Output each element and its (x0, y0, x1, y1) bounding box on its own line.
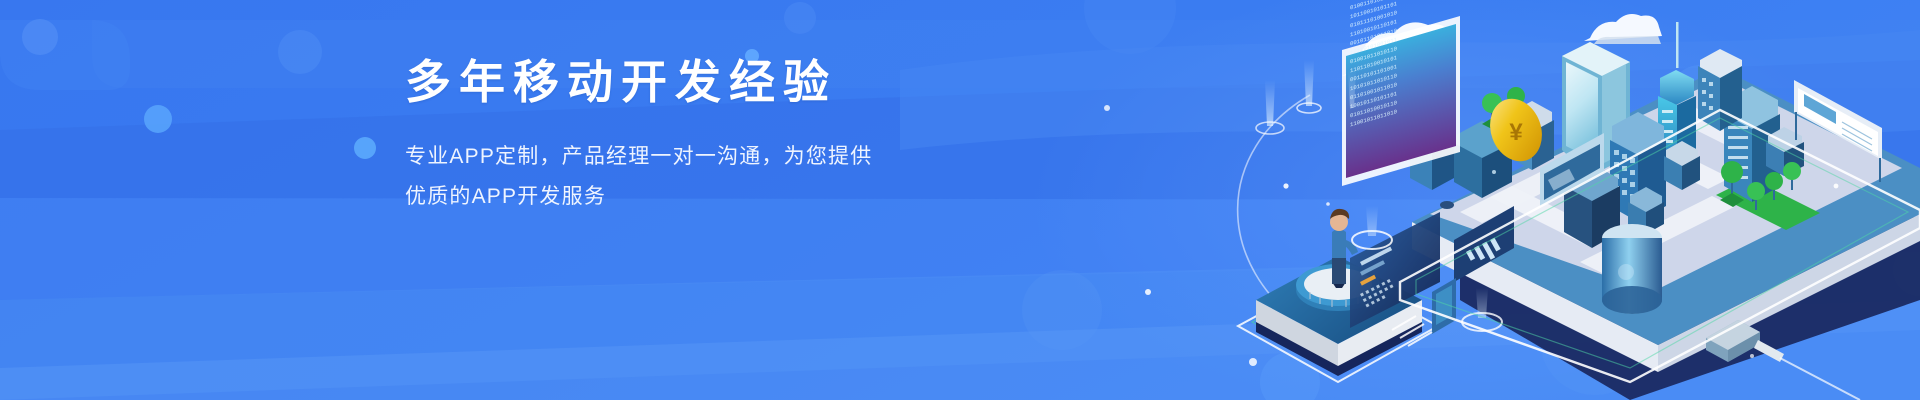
hero-illustration: ¥ 01001101010110 10110010101101 01011101… (1160, 0, 1920, 400)
subtitle-line-2: 优质的APP开发服务 (405, 177, 1025, 217)
decor-circle-5 (784, 2, 816, 34)
yen-symbol: ¥ (1509, 119, 1523, 146)
cloud-icon-2 (1584, 14, 1662, 44)
light-beams (1256, 60, 1356, 134)
decor-circle-2 (144, 105, 172, 133)
isometric-city-illustration: ¥ 01001101010110 10110010101101 01011101… (1160, 0, 1920, 400)
hero-banner: 多年移动开发经验 专业APP定制，产品经理一对一沟通，为您提供 优质的APP开发… (0, 0, 1920, 400)
building-cube-2 (1664, 141, 1700, 190)
hero-copy: 多年移动开发经验 专业APP定制，产品经理一对一沟通，为您提供 优质的APP开发… (405, 56, 1025, 217)
camera-lens (1440, 201, 1454, 209)
decor-circle-19 (1104, 105, 1110, 111)
subtitle-line-1: 专业APP定制，产品经理一对一沟通，为您提供 (405, 137, 1025, 177)
decor-circle-1 (22, 19, 58, 55)
decor-circle-4 (278, 30, 322, 74)
decor-circle-18 (1145, 289, 1151, 295)
page-title: 多年移动开发经验 (405, 56, 1025, 109)
decor-circle-14 (1022, 270, 1102, 350)
subtitle-group: 专业APP定制，产品经理一对一沟通，为您提供 优质的APP开发服务 (405, 137, 1025, 217)
rounded-block-top-left (0, 20, 130, 90)
decor-circle-3 (354, 137, 376, 159)
cylinder-tower (1602, 224, 1662, 314)
